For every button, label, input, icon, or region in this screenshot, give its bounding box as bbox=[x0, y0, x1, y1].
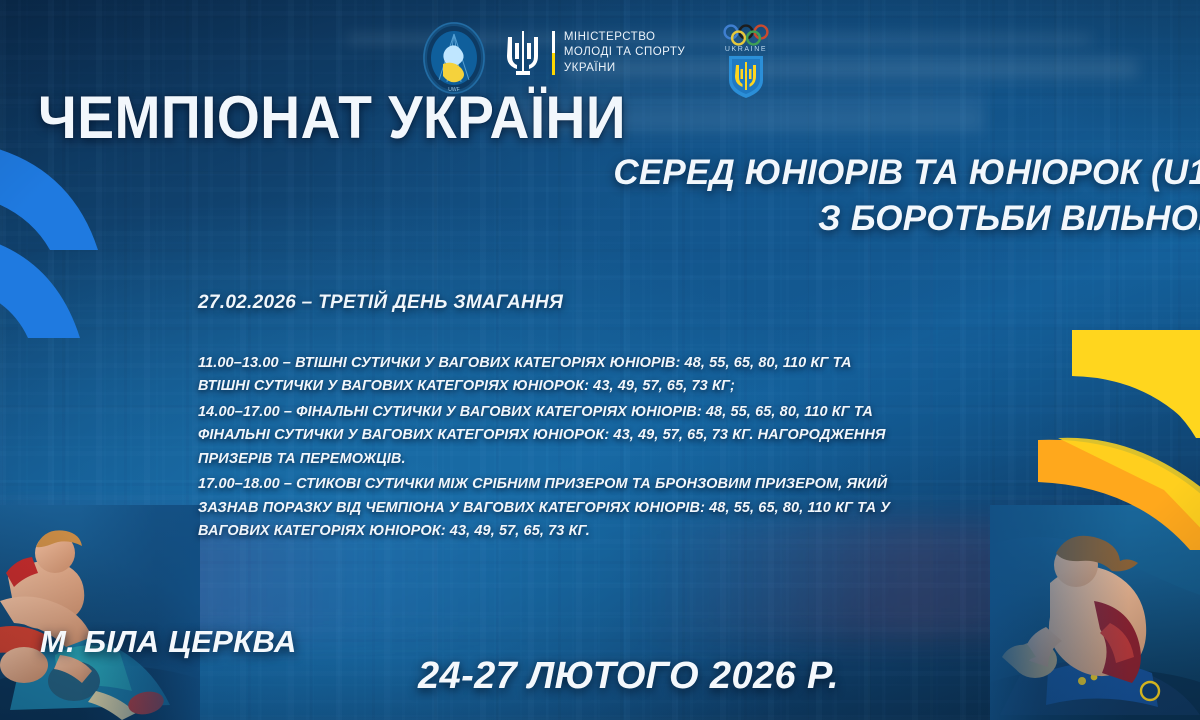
swoosh-right-yellow-icon bbox=[1014, 330, 1200, 550]
schedule-list: 11.00–13.00 – ВТІШНІ СУТИЧКИ У ВАГОВИХ К… bbox=[198, 352, 998, 546]
subtitle-block: СЕРЕД ЮНІОРІВ ТА ЮНІОРОК (U1 З БОРОТЬБИ … bbox=[613, 150, 1200, 241]
subtitle-line-1: СЕРЕД ЮНІОРІВ ТА ЮНІОРОК (U1 bbox=[613, 150, 1200, 196]
schedule-session-3: 17.00–18.00 – СТИКОВІ СУТИЧКИ МІЖ СРІБНИ… bbox=[198, 473, 998, 543]
ministry-line-1: МІНІСТЕРСТВО bbox=[564, 30, 685, 45]
schedule-line: ВТІШНІ СУТИЧКИ У ВАГОВИХ КАТЕГОРІЯХ ЮНІО… bbox=[198, 375, 998, 398]
trident-icon bbox=[503, 29, 543, 77]
ministry-line-3: УКРАЇНИ bbox=[564, 61, 685, 76]
swoosh-left-blue-icon bbox=[0, 138, 170, 338]
schedule-line: ВАГОВИХ КАТЕГОРІЯХ ЮНІОРОК: 43, 49, 57, … bbox=[198, 520, 998, 543]
schedule-line: 14.00–17.00 – ФІНАЛЬНІ СУТИЧКИ У ВАГОВИХ… bbox=[198, 401, 998, 424]
venue-city: М. БІЛА ЦЕРКВА bbox=[40, 624, 297, 660]
schedule-session-2: 14.00–17.00 – ФІНАЛЬНІ СУТИЧКИ У ВАГОВИХ… bbox=[198, 401, 998, 471]
schedule-line: 11.00–13.00 – ВТІШНІ СУТИЧКИ У ВАГОВИХ К… bbox=[198, 352, 998, 375]
poster-root: UWF МІНІСТЕРСТВО МОЛОДІ ТА СПОРТУ УКРАЇН… bbox=[0, 0, 1200, 720]
schedule-line: 17.00–18.00 – СТИКОВІ СУТИЧКИ МІЖ СРІБНИ… bbox=[198, 473, 998, 496]
wrestler-photo-men bbox=[0, 505, 200, 720]
schedule-session-1: 11.00–13.00 – ВТІШНІ СУТИЧКИ У ВАГОВИХ К… bbox=[198, 352, 998, 399]
day-heading: 27.02.2026 – ТРЕТІЙ ДЕНЬ ЗМАГАННЯ bbox=[198, 292, 563, 314]
schedule-line: ФІНАЛЬНІ СУТИЧКИ У ВАГОВИХ КАТЕГОРІЯХ ЮН… bbox=[198, 424, 998, 447]
ministry-text-block: МІНІСТЕРСТВО МОЛОДІ ТА СПОРТУ УКРАЇНИ bbox=[564, 30, 685, 76]
ministry-divider-bar bbox=[552, 31, 555, 75]
subtitle-line-2: З БОРОТЬБИ ВІЛЬНОЇ bbox=[613, 196, 1200, 242]
ministry-line-2: МОЛОДІ ТА СПОРТУ bbox=[564, 45, 685, 60]
schedule-line: ЗАЗНАВ ПОРАЗКУ ВІД ЧЕМПІОНА У ВАГОВИХ КА… bbox=[198, 497, 998, 520]
event-dates: 24-27 ЛЮТОГО 2026 Р. bbox=[418, 655, 839, 698]
page-title: ЧЕМПІОНАТ УКРАЇНИ bbox=[38, 88, 626, 148]
noc-caption: UKRAINE bbox=[725, 46, 767, 53]
noc-ukraine-emblem-icon: UKRAINE bbox=[715, 22, 777, 100]
wrestler-men-illustration bbox=[0, 505, 200, 720]
ministry-logo: МІНІСТЕРСТВО МОЛОДІ ТА СПОРТУ УКРАЇНИ bbox=[503, 29, 685, 77]
schedule-line: ПРИЗЕРІВ ТА ПЕРЕМОЖЦІВ. bbox=[198, 448, 998, 471]
